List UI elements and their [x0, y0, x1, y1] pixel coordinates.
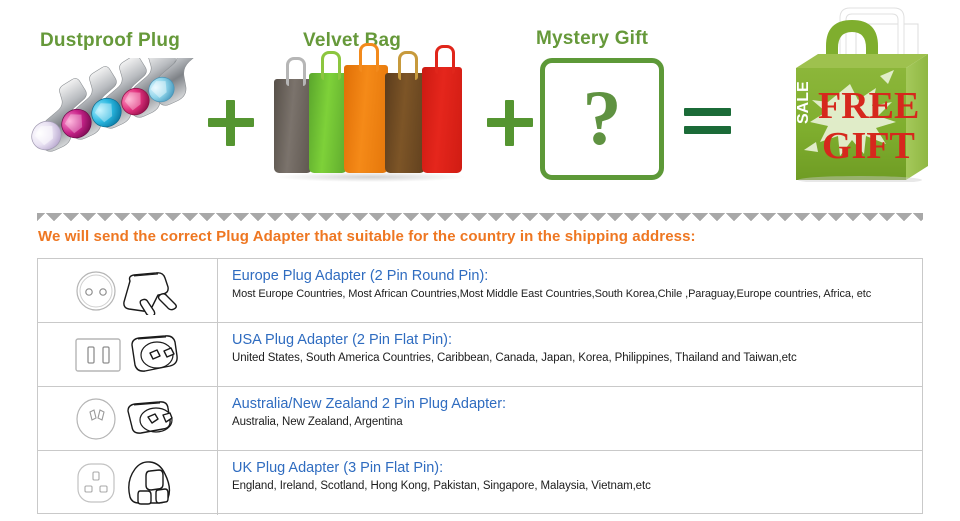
zigzag-divider: [37, 213, 923, 224]
equals-operator: [684, 108, 731, 140]
table-row: UK Plug Adapter (3 Pin Flat Pin): Englan…: [38, 451, 922, 515]
plus-operator-1: [208, 100, 254, 146]
europe-plug-icon: [38, 259, 218, 322]
dustproof-plug-image: [30, 58, 200, 178]
promo-title-dustproof-plug: Dustproof Plug: [40, 30, 180, 52]
question-mark-icon: ?: [545, 57, 659, 179]
adapter-title: Australia/New Zealand 2 Pin Plug Adapter…: [232, 396, 922, 412]
free-label: FREE: [818, 85, 919, 127]
adapter-title: UK Plug Adapter (3 Pin Flat Pin):: [232, 460, 922, 476]
sale-label: SALE: [795, 81, 812, 124]
adapter-description: Australia, New Zealand, Argentina: [232, 416, 922, 428]
promo-banner: Dustproof Plug Velvet Bag Mystery Gift: [0, 0, 960, 212]
adapter-description: United States, South America Countries, …: [232, 352, 922, 364]
adapter-description: England, Ireland, Scotland, Hong Kong, P…: [232, 480, 922, 492]
table-row: USA Plug Adapter (2 Pin Flat Pin): Unite…: [38, 323, 922, 387]
adapter-title: USA Plug Adapter (2 Pin Flat Pin):: [232, 332, 922, 348]
plug-adapter-table: Europe Plug Adapter (2 Pin Round Pin): M…: [37, 258, 923, 514]
uk-plug-icon: [38, 451, 218, 515]
velvet-bag-image: [272, 57, 470, 185]
plus-operator-2: [487, 100, 533, 146]
shipping-note-text: We will send the correct Plug Adapter th…: [38, 228, 938, 245]
australia-plug-icon: [38, 387, 218, 450]
table-row: Europe Plug Adapter (2 Pin Round Pin): M…: [38, 259, 922, 323]
adapter-description: Most Europe Countries, Most African Coun…: [232, 288, 922, 300]
free-gift-bag-image: SALE FREE GIFT: [768, 6, 946, 182]
promo-title-mystery-gift: Mystery Gift: [536, 28, 648, 50]
promo-title-velvet-bag: Velvet Bag: [303, 30, 401, 52]
mystery-gift-box: ?: [540, 58, 664, 180]
usa-plug-icon: [38, 323, 218, 386]
table-row: Australia/New Zealand 2 Pin Plug Adapter…: [38, 387, 922, 451]
gift-label: GIFT: [822, 125, 915, 167]
adapter-title: Europe Plug Adapter (2 Pin Round Pin):: [232, 268, 922, 284]
